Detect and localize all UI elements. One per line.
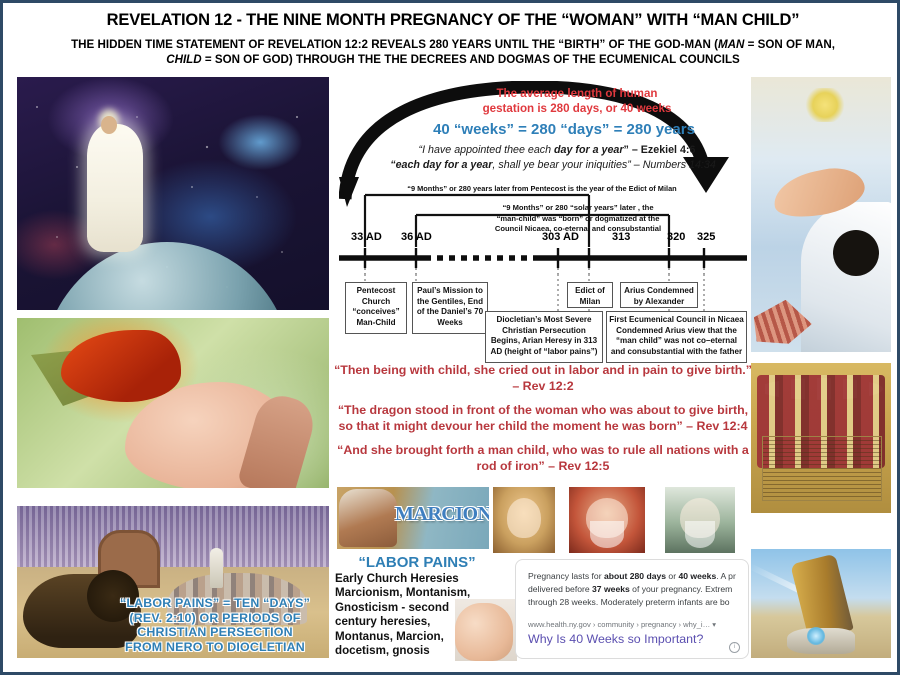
google-snippet-line-2: delivered before 37 weeks of your pregna… (528, 583, 736, 596)
marcion-portrait (339, 489, 397, 547)
snippet-pre-2: delivered before (528, 584, 592, 594)
woman-head-with-crown (101, 116, 117, 134)
event-box-diocletian-line-4: AD (height of “labor pains”) (488, 347, 600, 358)
event-box-arius-line-1: Arius Condemned (623, 286, 695, 297)
tick-label-313: 313 (612, 231, 630, 243)
event-box-first-ecumenical-council: First Ecumenical Council in Nicaea Conde… (606, 311, 747, 363)
event-box-nicaea-line-3: “man child” was not co–eternal (609, 336, 744, 347)
google-result-title-link[interactable]: Why Is 40 Weeks so Important? (528, 632, 736, 646)
event-box-diocletian-line-1: Diocletian’s Most Severe (488, 315, 600, 326)
robed-figure (801, 202, 891, 352)
event-box-milan-line-2: Milan (570, 297, 610, 308)
google-snippet-text: Pregnancy lasts for about 280 days or 40… (528, 570, 736, 610)
event-box-milan-line-1: Edict of (570, 286, 610, 297)
snippet-mid-1: or (666, 571, 678, 581)
image-colosseum-martyrs: “LABOR PAINS” = TEN “DAYS” (REV. 2:10) O… (17, 506, 329, 658)
timeline-axis (339, 244, 747, 274)
colosseum-caption-line-4: FROM NERO TO DIOCLETIAN (103, 640, 327, 654)
google-snippet-line-1: Pregnancy lasts for about 280 days or 40… (528, 570, 736, 583)
labor-pains-heading: “LABOR PAINS” (337, 554, 497, 571)
event-box-pentecost-line-1: Pentecost (348, 286, 404, 297)
google-snippet-line-3: through 28 weeks. Moderately preterm inf… (528, 596, 736, 609)
snippet-post-2: of your pregnancy. Extrem (630, 584, 733, 594)
pregnant-belly-photo (455, 603, 513, 661)
subtitle-part-1: THE HIDDEN TIME STATEMENT OF REVELATION … (71, 38, 718, 51)
tick-label-320: 320 (667, 231, 685, 243)
event-box-arius-condemned: Arius Condemned by Alexander (620, 282, 698, 308)
ezekiel-pre: “I have appointed thee each (419, 144, 554, 156)
image-daniel-statue-struck-by-stone (751, 549, 891, 658)
dragon-head (61, 330, 181, 402)
marcion-wordmark: MARCION (395, 503, 489, 526)
snippet-bold-40-weeks: 40 weeks (678, 571, 716, 581)
snippet-pre-1: Pregnancy lasts for (528, 571, 604, 581)
event-box-nicaea-line-4: and consubstantial with the father (609, 347, 744, 358)
colosseum-crowd (17, 506, 329, 567)
event-box-diocletian-persecution: Diocletian’s Most Severe Christian Perse… (485, 311, 603, 363)
subtitle-part-2: = SON OF MAN, (744, 38, 835, 51)
gestation-note-line-1: The average length of human (427, 87, 727, 102)
tick-label-33ad: 33 AD (351, 231, 382, 243)
gestation-note-line-2: gestation is 280 days, or 40 weeks (427, 102, 727, 117)
colosseum-caption: “LABOR PAINS” = TEN “DAYS” (REV. 2:10) O… (103, 596, 327, 654)
robed-figure-head (833, 230, 879, 276)
image-man-child-caught-up-to-god (751, 77, 891, 352)
slide-canvas: REVELATION 12 - THE NINE MONTH PREGNANCY… (0, 0, 900, 675)
quote-rev-12-2: “Then being with child, she cried out in… (333, 363, 753, 394)
colosseum-caption-line-2: (REV. 2:10) OR PERIODS OF (103, 611, 327, 625)
weeks-days-years-equation: 40 “weeks” = 280 “days” = 280 years (399, 121, 729, 138)
heresiarch-portrait-3-engraving (665, 487, 735, 553)
event-box-paul-line-4: Weeks (415, 318, 485, 329)
event-box-edict-of-milan: Edict of Milan (567, 282, 613, 308)
scripture-numbers: “each day for a year, shall ye bear your… (365, 158, 741, 172)
page-title: REVELATION 12 - THE NINE MONTH PREGNANCY… (3, 11, 900, 30)
subtitle-italic-man: MAN (718, 38, 744, 51)
google-search-result-card[interactable]: Pregnancy lasts for about 280 days or 40… (515, 559, 749, 659)
portrait-3-beard (685, 521, 716, 547)
event-box-paul-line-2: the Gentiles, End (415, 297, 485, 308)
info-icon[interactable]: i (729, 642, 740, 653)
nicene-creed-scroll (762, 436, 882, 501)
image-council-of-nicaea-icon (751, 363, 891, 513)
page-subtitle: THE HIDDEN TIME STATEMENT OF REVELATION … (61, 37, 845, 67)
numbers-rest: , shall ye bear your iniquities” – Numbe… (492, 159, 715, 171)
ezekiel-emphasis: day for a year (554, 144, 624, 156)
colosseum-caption-line-3: CHRISTIAN PERSECTION (103, 625, 327, 639)
tick-label-36ad: 36 AD (401, 231, 432, 243)
heresiarch-portrait-2-mani (569, 487, 645, 553)
snippet-bold-280-days: about 280 days (604, 571, 666, 581)
gestation-note: The average length of human gestation is… (427, 87, 727, 116)
event-box-paul-line-1: Paul’s Mission to (415, 286, 485, 297)
event-box-nicaea-line-1: First Ecumenical Council in Nicaea (609, 315, 744, 326)
event-box-nicaea-line-2: Condemned Arius view that the (609, 326, 744, 337)
subtitle-part-3: = SON OF GOD) THROUGH THE THE DECREES AN… (202, 53, 740, 66)
event-box-paul-mission: Paul’s Mission to the Gentiles, End of t… (412, 282, 488, 334)
quote-rev-12-5: “And she brought forth a man child, who … (333, 443, 753, 474)
heavenly-throne-glow (804, 88, 846, 122)
snippet-bold-37-weeks: 37 weeks (592, 584, 630, 594)
stone-cut-without-hands (807, 627, 825, 645)
event-box-pentecost-line-4: Man-Child (348, 318, 404, 329)
event-box-arius-line-2: by Alexander (623, 297, 695, 308)
google-result-url[interactable]: www.health.ny.gov › community › pregnanc… (528, 620, 736, 629)
portrait-1-face (507, 498, 542, 539)
woman-figure (87, 124, 143, 252)
event-box-pentecost-line-2: Church (348, 297, 404, 308)
tick-label-325: 325 (697, 231, 715, 243)
heresiarch-portrait-1 (493, 487, 555, 553)
event-box-diocletian-line-2: Christian Persecution (488, 326, 600, 337)
ezekiel-ref: ” – Ezekiel 4:6 (624, 144, 696, 156)
snippet-post-1: . A pr (716, 571, 736, 581)
event-box-pentecost: Pentecost Church “conceives” Man-Child (345, 282, 407, 334)
image-dragon-and-baby-hand (17, 318, 329, 488)
event-box-pentecost-line-3: “conceives” (348, 307, 404, 318)
arena-statue (210, 548, 223, 588)
heresy-line-1: Early Church Heresies (335, 572, 487, 586)
tick-label-303ad: 303 AD (542, 231, 579, 243)
numbers-emphasis: “each day for a year (390, 159, 492, 171)
portrait-2-beard (590, 521, 623, 547)
marcion-banner-image: MARCION (337, 487, 489, 549)
event-box-diocletian-line-3: Begins, Arian Heresy in 313 (488, 336, 600, 347)
colosseum-caption-line-1: “LABOR PAINS” = TEN “DAYS” (103, 596, 327, 610)
scripture-ezekiel: “I have appointed thee each day for a ye… (377, 143, 737, 157)
subtitle-italic-child: CHILD (166, 53, 201, 66)
timeline-diagram: The average length of human gestation is… (339, 81, 747, 356)
event-box-paul-line-3: of the Daniel’s 70 (415, 307, 485, 318)
scripture-quotes: “Then being with child, she cried out in… (333, 363, 753, 484)
quote-rev-12-4: “The dragon stood in front of the woman … (333, 403, 753, 434)
image-woman-clothed-with-sun (17, 77, 329, 310)
